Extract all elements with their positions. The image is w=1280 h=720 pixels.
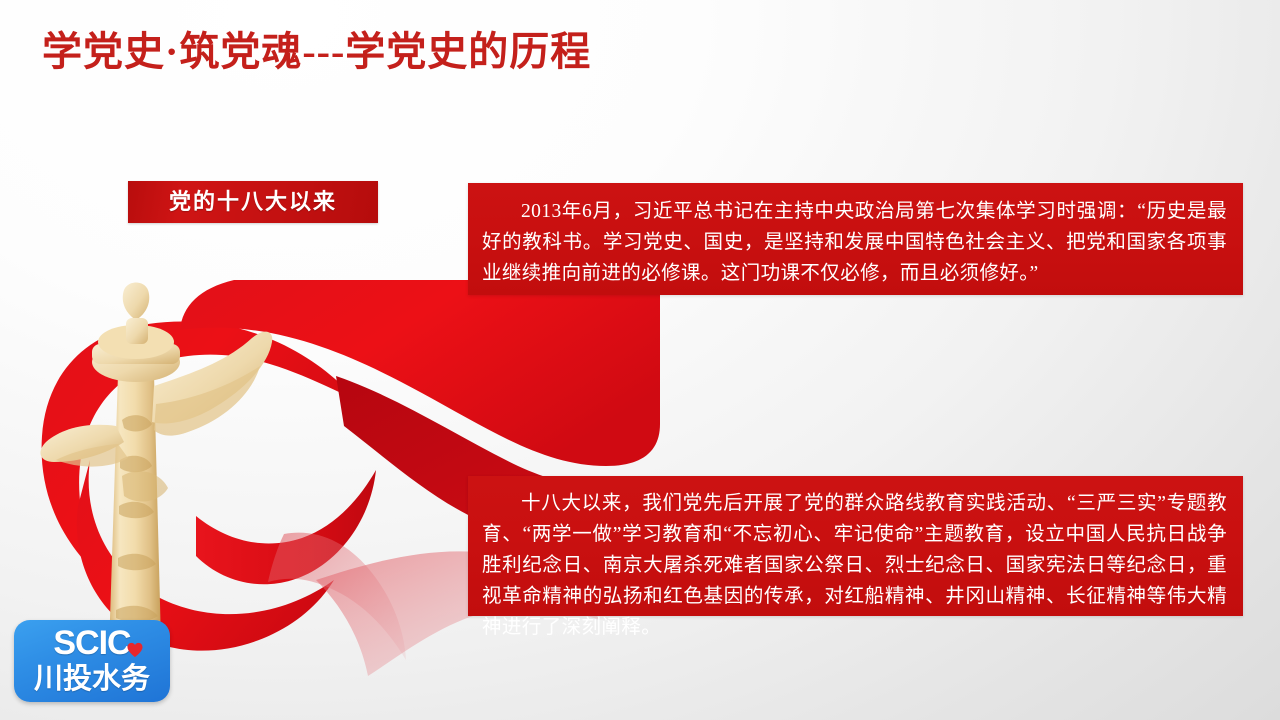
- section-label-text: 党的十八大以来: [169, 191, 337, 213]
- quote-box-since-18th: 十八大以来，我们党先后开展了党的群众路线教育实践活动、“三严三实”专题教育、“两…: [468, 476, 1243, 616]
- page-title-area: 学党史·筑党魂---学党史的历程: [42, 26, 1142, 86]
- heart-droplet-icon: [127, 642, 143, 658]
- quote-box-2013: 2013年6月，习近平总书记在主持中央政治局第七次集体学习时强调：“历史是最好的…: [468, 183, 1243, 295]
- slide-canvas: 学党史·筑党魂---学党史的历程: [0, 0, 1280, 720]
- quote-text-since-18th: 十八大以来，我们党先后开展了党的群众路线教育实践活动、“三严三实”专题教育、“两…: [482, 488, 1227, 643]
- section-label-banner: 党的十八大以来: [128, 181, 378, 223]
- quote-text-2013: 2013年6月，习近平总书记在主持中央政治局第七次集体学习时强调：“历史是最好的…: [482, 196, 1227, 289]
- logo-scic-text: SCIC: [14, 624, 170, 662]
- logo-chinese-text: 川投水务: [14, 661, 170, 697]
- company-logo: SCIC 川投水务: [14, 620, 170, 702]
- page-title: 学党史·筑党魂---学党史的历程: [42, 26, 1142, 78]
